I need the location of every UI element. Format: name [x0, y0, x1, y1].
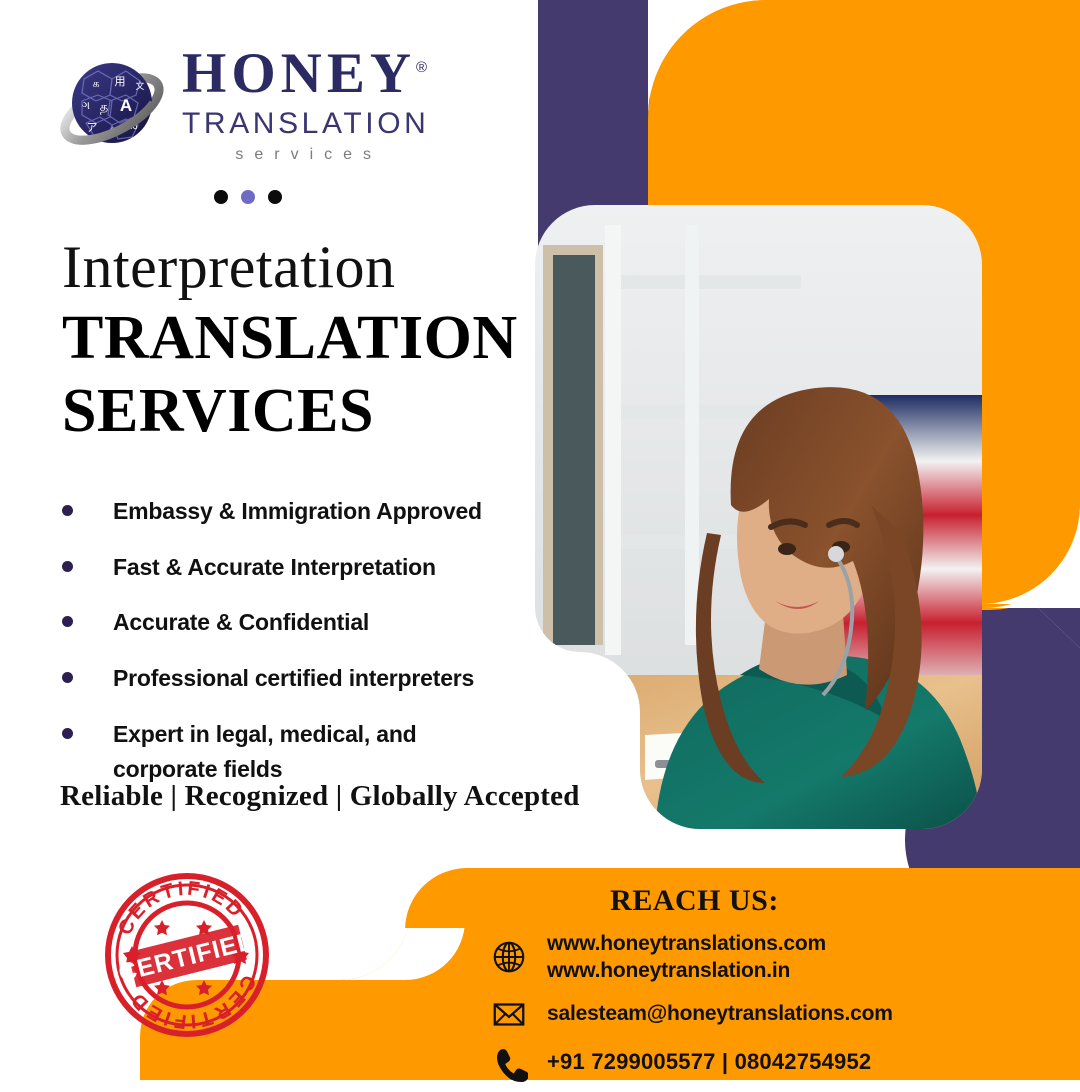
dot-1 — [214, 190, 228, 204]
list-item: Expert in legal, medical, and corporate … — [56, 717, 526, 788]
svg-text:A: A — [120, 96, 132, 115]
website-line-1[interactable]: www.honeytranslations.com — [547, 930, 826, 957]
list-item: Fast & Accurate Interpretation — [56, 550, 526, 586]
certified-stamp: CERTIFIED CERTIFIED CERTIFIED — [104, 872, 270, 1038]
bullet-dot-icon — [62, 672, 73, 683]
website-line-2[interactable]: www.honeytranslation.in — [547, 957, 826, 984]
phone-numbers[interactable]: +91 7299005577 | 08042754952 — [547, 1048, 871, 1077]
contact-row-phone[interactable]: +91 7299005577 | 08042754952 — [489, 1043, 893, 1083]
page-title: Interpretation TRANSLATION SERVICES — [62, 236, 518, 445]
bullet-dot-icon — [62, 505, 73, 516]
poster-canvas: க 用 文 ગ த A ア ಅ న HONEY® — [0, 0, 1080, 1080]
list-item: Professional certified interpreters — [56, 661, 526, 697]
globe-icon — [489, 937, 529, 977]
registered-mark: ® — [416, 59, 427, 76]
dot-separator — [214, 190, 476, 204]
contact-row-email[interactable]: salesteam@honeytranslations.com — [489, 994, 893, 1034]
bullet-dot-icon — [62, 728, 73, 739]
brand-logo[interactable]: க 用 文 ગ த A ア ಅ న HONEY® — [56, 42, 476, 204]
tagline: Reliable | Recognized | Globally Accepte… — [60, 780, 580, 813]
feature-label: Professional certified interpreters — [89, 661, 474, 697]
list-item: Accurate & Confidential — [56, 605, 526, 641]
bullet-dot-icon — [62, 616, 73, 627]
phone-icon — [489, 1043, 529, 1083]
interpreter-photo — [535, 205, 982, 829]
svg-text:த: த — [100, 99, 108, 114]
feature-list: Embassy & Immigration Approved Fast & Ac… — [56, 494, 526, 808]
feature-label: Fast & Accurate Interpretation — [89, 550, 436, 586]
logo-tertiary-name: services — [182, 146, 429, 164]
feature-label: Embassy & Immigration Approved — [89, 494, 482, 530]
logo-primary-name: HONEY® — [182, 46, 429, 102]
headline-script-line: Interpretation — [62, 236, 518, 299]
svg-text:用: 用 — [115, 76, 126, 88]
headline-bold-line-2: SERVICES — [62, 378, 518, 445]
svg-text:ગ: ગ — [82, 100, 90, 112]
feature-label: Accurate & Confidential — [89, 605, 369, 641]
logo-secondary-name: TRANSLATION — [182, 105, 429, 143]
svg-text:க: க — [92, 78, 99, 90]
dot-2 — [241, 190, 255, 204]
envelope-icon — [489, 994, 529, 1034]
logo-honey-text: HONEY — [182, 42, 416, 105]
feature-label: Expert in legal, medical, and corporate … — [89, 717, 419, 788]
dot-3 — [268, 190, 282, 204]
contact-panel: REACH US: www.honeytranslations.com www. — [405, 868, 1080, 1080]
svg-text:ア: ア — [87, 122, 98, 134]
contact-title: REACH US: — [405, 884, 1080, 918]
headline-bold-line-1: TRANSLATION — [62, 305, 518, 372]
globe-languages-icon: க 用 文 ગ த A ア ಅ న — [56, 47, 168, 159]
bullet-dot-icon — [62, 561, 73, 572]
svg-text:文: 文 — [135, 80, 144, 91]
list-item: Embassy & Immigration Approved — [56, 494, 526, 530]
contact-row-website[interactable]: www.honeytranslations.com www.honeytrans… — [489, 930, 893, 985]
email-address[interactable]: salesteam@honeytranslations.com — [547, 1000, 893, 1027]
